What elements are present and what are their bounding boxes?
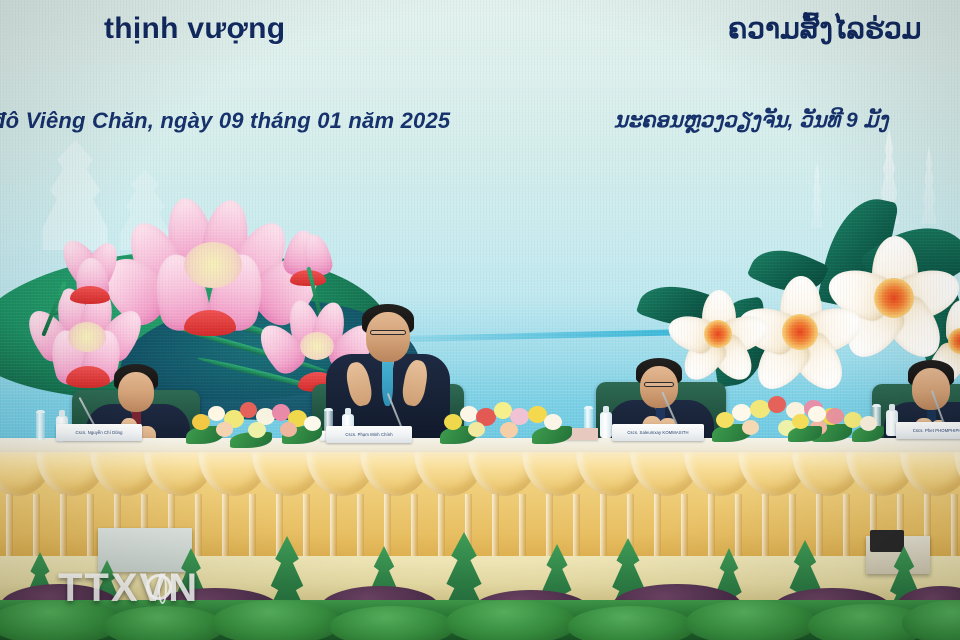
nameplate-official-right: Cscs. Saleumxay KOMMASITH [612,424,704,441]
nameplate-official-far-right: Cscs. Phet PHOMPHIPHAK [896,422,960,439]
floral-arrangement-left [186,396,326,446]
green-shrub [330,606,454,640]
floral-arrangement-far-right [788,398,884,444]
head-face [912,368,950,410]
hand-sanitizer [600,412,612,438]
nameplate-speaker-center: Cscs. Phạm Minh Chính [326,426,412,443]
green-shrub [568,606,694,640]
head-face [640,366,678,408]
green-shrub [686,600,816,640]
green-shrub [212,600,340,640]
green-shrub [104,606,224,640]
nameplate-official-left: Cscs. Nguyễn Chí Dũng [56,424,142,441]
conference-photo: thịnh vượng đô Viêng Chăn, ngày 09 tháng… [0,0,960,640]
floor-equipment-right-dark [870,530,904,552]
water-bottle [36,410,45,440]
eyeglasses [644,382,674,387]
floral-arrangement-center [440,396,572,446]
green-shrub [446,600,576,640]
eyeglasses [370,330,406,335]
head-face [118,372,154,412]
agency-watermark: TTXVN [58,566,199,611]
necktie [382,356,393,406]
head-face [366,312,410,362]
watermark-globe-icon [146,574,172,600]
